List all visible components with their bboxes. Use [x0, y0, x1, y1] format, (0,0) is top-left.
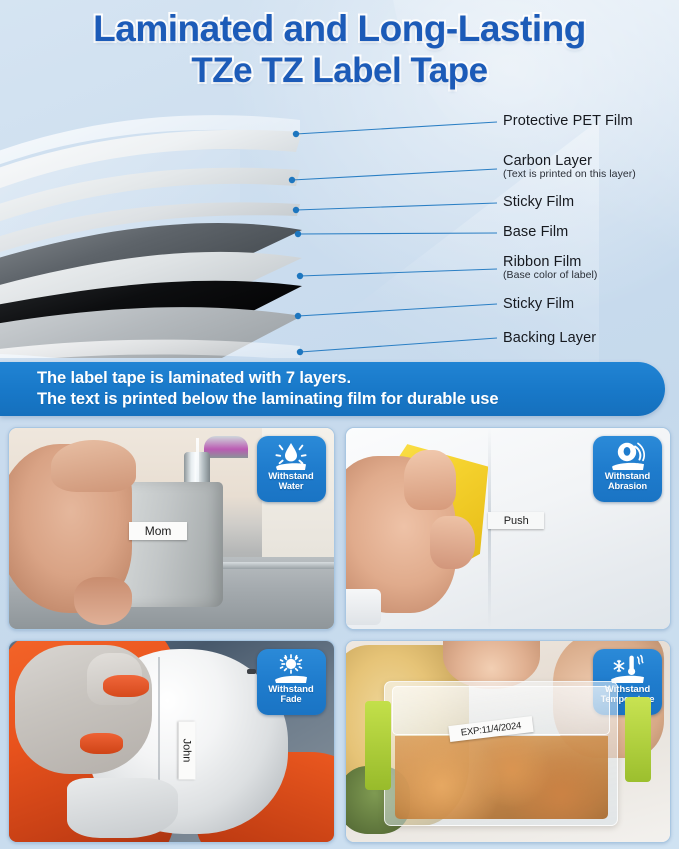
thumb: [74, 577, 132, 625]
tape-label-mom: Mom: [129, 522, 187, 540]
helmet-brim: [67, 778, 177, 838]
tape-roll-icon: [608, 441, 648, 471]
callout-label: Ribbon Film: [503, 254, 597, 270]
callout-base-film: Base Film: [503, 224, 568, 240]
green-clip-left: [365, 701, 391, 789]
badge-withstand-fade: Withstand Fade: [257, 649, 326, 715]
water-drop-icon: [271, 441, 311, 471]
callout-sticky-film-lower: Sticky Film: [503, 296, 574, 312]
callout-label: Base Film: [503, 224, 568, 240]
callout-label: Backing Layer: [503, 330, 596, 346]
laminate-info-banner: The label tape is laminated with 7 layer…: [0, 362, 665, 416]
faucet-neck: [204, 436, 248, 458]
glove-fingertip-lower: [80, 733, 122, 753]
clear-food-container: [384, 681, 618, 826]
badge-text: Withstand Fade: [268, 685, 313, 705]
callout-label: Sticky Film: [503, 296, 574, 312]
banner-line-2: The text is printed below the laminating…: [37, 389, 665, 410]
banner-line-1: The label tape is laminated with 7 layer…: [37, 368, 665, 389]
layer-callout-labels: Protective PET Film Carbon Layer (Text i…: [0, 108, 679, 358]
green-clip-right: [625, 697, 651, 781]
title-line-1: Laminated and Long-Lasting: [0, 8, 679, 51]
title-line-2: TZe TZ Label Tape: [0, 51, 679, 92]
badge-line-2: Abrasion: [605, 482, 650, 492]
callout-label: Carbon Layer: [503, 153, 636, 169]
helmet-clip: [247, 669, 256, 674]
badge-text: Withstand Abrasion: [605, 472, 650, 492]
tape-label-john: John: [179, 721, 196, 779]
callout-sublabel: (Text is printed on this layer): [503, 168, 636, 180]
callout-carbon-layer: Carbon Layer (Text is printed on this la…: [503, 153, 636, 180]
glove-fingertip-upper: [103, 675, 148, 697]
finger-upper: [404, 450, 456, 510]
infographic-page: Laminated and Long-Lasting TZe TZ Label …: [0, 0, 679, 849]
sleeve-cuff: [345, 589, 382, 625]
badge-withstand-water: Withstand Water: [257, 436, 326, 502]
finger-lower: [430, 516, 475, 568]
panel-withstand-temperature: EXP:11/4/2024: [345, 640, 672, 843]
badge-line-2: Water: [268, 482, 313, 492]
badge-line-2: Fade: [268, 695, 313, 705]
callout-label: Sticky Film: [503, 194, 574, 210]
page-title: Laminated and Long-Lasting TZe TZ Label …: [0, 8, 679, 92]
panel-withstand-fade: John: [8, 640, 335, 843]
callout-sticky-film-upper: Sticky Film: [503, 194, 574, 210]
panel-withstand-water: Mom Withstand Water: [8, 427, 335, 630]
sun-icon: [271, 654, 311, 684]
badge-withstand-abrasion: Withstand Abrasion: [593, 436, 662, 502]
callout-backing-layer: Backing Layer: [503, 330, 596, 346]
tape-label-push: Push: [488, 512, 544, 529]
callout-label: Protective PET Film: [503, 113, 633, 129]
panel-withstand-abrasion: Push Withstand Abrasion: [345, 427, 672, 630]
callout-sublabel: (Base color of label): [503, 269, 597, 281]
badge-text: Withstand Water: [268, 472, 313, 492]
callout-protective-pet-film: Protective PET Film: [503, 113, 633, 129]
feature-photo-grid: Mom Withstand Water: [8, 427, 671, 843]
callout-ribbon-film: Ribbon Film (Base color of label): [503, 254, 597, 281]
pasta-food: [395, 736, 608, 819]
fingers: [51, 440, 135, 492]
thermometer-snowflake-icon: [608, 654, 648, 684]
